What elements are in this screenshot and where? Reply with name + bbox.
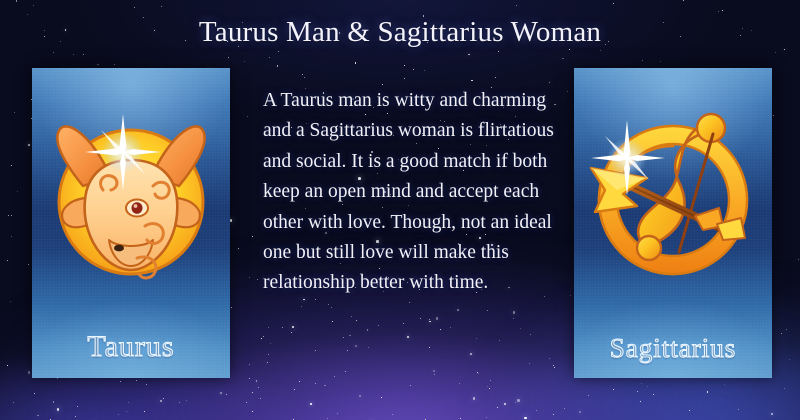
zodiac-card-sagittarius[interactable]: Sagittarius	[574, 68, 772, 378]
description-column: A Taurus man is witty and charming and a…	[263, 86, 555, 299]
description-text: A Taurus man is witty and charming and a…	[263, 86, 555, 299]
zodiac-card-label-sagittarius: Sagittarius	[574, 333, 772, 364]
taurus-bull-icon	[32, 90, 230, 302]
sagittarius-bow-arrow-icon	[574, 90, 772, 302]
zodiac-card-taurus[interactable]: Taurus	[32, 68, 230, 378]
zodiac-compatibility-banner: Taurus Man & Sagittarius Woman	[0, 0, 800, 420]
page-title: Taurus Man & Sagittarius Woman	[0, 16, 800, 49]
zodiac-card-label-taurus: Taurus	[32, 330, 230, 364]
